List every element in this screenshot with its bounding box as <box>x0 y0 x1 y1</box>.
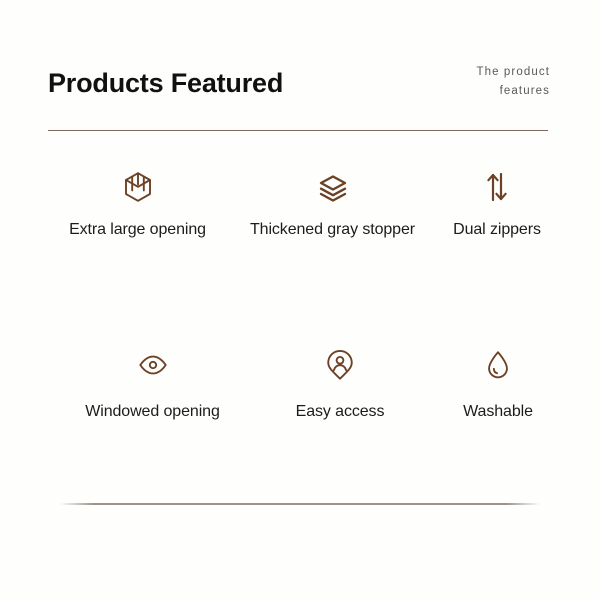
cube-icon <box>121 170 155 204</box>
feature-item-dual-zippers[interactable]: Dual zippers <box>432 170 562 240</box>
feature-item-extra-large-opening[interactable]: Extra large opening <box>30 170 245 240</box>
header-subtitle: The product features <box>477 56 552 101</box>
feature-item-thickened-gray-stopper[interactable]: Thickened gray stopper <box>245 170 420 240</box>
feature-label: Easy access <box>296 402 385 422</box>
person-pin-icon <box>324 348 356 382</box>
header-subtitle-line-1: The product <box>477 63 550 82</box>
feature-item-washable[interactable]: Washable <box>438 348 558 422</box>
header-subtitle-line-2: features <box>477 82 550 101</box>
feature-label: Extra large opening <box>69 220 206 240</box>
feature-label: Dual zippers <box>453 220 541 240</box>
product-features-page: Products Featured The product features <box>0 0 600 600</box>
features-grid: Extra large opening Thickened gray stopp… <box>0 170 600 422</box>
feature-label: Washable <box>463 402 533 422</box>
feature-label: Windowed opening <box>85 402 220 422</box>
water-drop-icon <box>482 348 514 382</box>
feature-item-windowed-opening[interactable]: Windowed opening <box>45 348 260 422</box>
up-down-arrows-icon <box>480 170 514 204</box>
page-header: Products Featured The product features <box>48 56 552 118</box>
divider-bottom <box>60 503 540 505</box>
features-row-2: Windowed opening Easy access <box>0 348 600 422</box>
feature-label: Thickened gray stopper <box>250 220 415 240</box>
feature-item-easy-access[interactable]: Easy access <box>260 348 420 422</box>
page-title: Products Featured <box>48 70 283 97</box>
layers-icon <box>316 170 350 204</box>
features-row-1: Extra large opening Thickened gray stopp… <box>0 170 600 240</box>
divider-top <box>48 130 548 131</box>
eye-icon <box>137 348 169 382</box>
